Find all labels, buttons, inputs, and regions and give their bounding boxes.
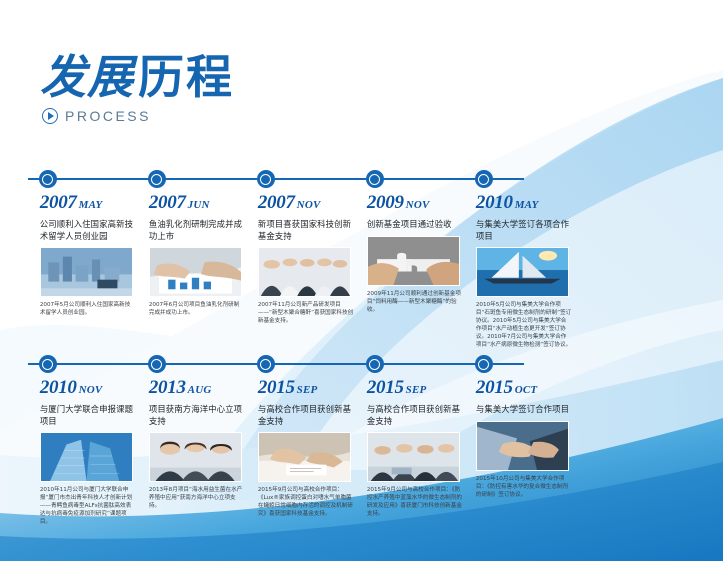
timeline-month: JUN	[188, 199, 210, 211]
timeline-headline: 与高校合作项目获创新基金支持	[258, 404, 358, 427]
timeline-year: 2015	[258, 377, 295, 398]
timeline-row-1: 2007MAY公司顺利入住国家高新技术留学人员创业园2007年5月公司顺利入住国…	[28, 170, 524, 342]
business-team-photo	[258, 247, 351, 297]
timeline-axis	[28, 355, 524, 373]
timeline-node[interactable]	[475, 170, 493, 188]
timeline-axis	[28, 170, 524, 188]
timeline-caption: 2010年5月公司与集美大学合作项目“石斑鱼专用微生态制剂的研制”签订协议。20…	[476, 301, 572, 349]
timeline-caption: 2007年11月公司新产品研发项目——“新型木聚合糖酐”喜获国家科技创新基金支持…	[258, 301, 354, 325]
timeline-item: 2010NOV与厦门大学联合申报课题项目2010年11月公司与厦门大学联合申报“…	[40, 377, 140, 526]
timeline-item: 2007MAY公司顺利入住国家高新技术留学人员创业园2007年5月公司顺利入住国…	[40, 192, 140, 317]
timeline-year: 2009	[367, 192, 404, 213]
timeline-caption: 2015年9月公司与高校合作项目：《Lux®家族调控蛋白对嗜水气单胞菌在蝇蚓日常…	[258, 486, 354, 518]
timeline-month: MAY	[79, 199, 103, 211]
timeline-caption: 2015年10月公司与集美大学合作项目：《防控有害水华的复合微生态制剂的研制》签…	[476, 475, 572, 499]
timeline-items: 2007MAY公司顺利入住国家高新技术留学人员创业园2007年5月公司顺利入住国…	[28, 192, 524, 342]
timeline-month: SEP	[297, 384, 318, 396]
timeline-month: MAY	[515, 199, 539, 211]
timeline-year: 2007	[40, 192, 77, 213]
timeline-items: 2010NOV与厦门大学联合申报课题项目2010年11月公司与厦门大学联合申报“…	[28, 377, 524, 527]
timeline-node[interactable]	[257, 170, 275, 188]
page-header: 发展历程 PROCESS	[40, 52, 234, 124]
timeline-node[interactable]	[366, 355, 384, 373]
hands-on-documents-photo	[149, 247, 242, 297]
handshake-photo	[476, 421, 569, 471]
play-circle-icon	[42, 108, 58, 124]
timeline-date: 2007MAY	[40, 192, 140, 216]
timeline-node[interactable]	[39, 170, 57, 188]
timeline-item: 2010MAY与集美大学签订各项合作项目2010年5月公司与集美大学合作项目“石…	[476, 192, 576, 349]
timeline-node[interactable]	[257, 355, 275, 373]
meeting-women-photo	[149, 432, 242, 482]
timeline-caption: 2015年9月公司与高校合作项目：《防控水产养殖中蓝藻水华的微生态制剂的研发及应…	[367, 486, 463, 518]
timeline-month: AUG	[188, 384, 212, 396]
timeline-date: 2007NOV	[258, 192, 358, 216]
timeline-date: 2015OCT	[476, 377, 576, 401]
timeline-caption: 2013年8月项目“海水用益生菌在水产养殖中应用”获南方海洋中心立项支持。	[149, 486, 245, 510]
timeline-year: 2015	[367, 377, 404, 398]
timeline-date: 2010NOV	[40, 377, 140, 401]
timeline-month: OCT	[515, 384, 538, 396]
page-subtitle-row: PROCESS	[42, 108, 234, 124]
timeline-date: 2015SEP	[258, 377, 358, 401]
timeline-month: SEP	[406, 384, 427, 396]
timeline-date: 2013AUG	[149, 377, 249, 401]
timeline-month: NOV	[79, 384, 103, 396]
timeline-item: 2015SEP与高校合作项目获创新基金支持2015年9月公司与高校合作项目：《L…	[258, 377, 358, 518]
timeline-headline: 创新基金项目通过验收	[367, 219, 467, 231]
timeline-axis-line	[28, 178, 524, 180]
timeline-date: 2009NOV	[367, 192, 467, 216]
timeline-date: 2015SEP	[367, 377, 467, 401]
puzzle-pieces-photo	[367, 236, 460, 286]
timeline-node[interactable]	[39, 355, 57, 373]
timeline-caption: 2009年11月公司顺利通过创新基金项目“饲料用酶——新型木聚糖酶”的验收。	[367, 290, 463, 314]
timeline-item: 2009NOV创新基金项目通过验收2009年11月公司顺利通过创新基金项目“饲料…	[367, 192, 467, 314]
timeline-node[interactable]	[475, 355, 493, 373]
timeline-date: 2007JUN	[149, 192, 249, 216]
timeline-row-2: 2010NOV与厦门大学联合申报课题项目2010年11月公司与厦门大学联合申报“…	[28, 355, 524, 527]
timeline-month: NOV	[406, 199, 430, 211]
timeline-year: 2013	[149, 377, 186, 398]
signing-desk-photo	[258, 432, 351, 482]
timeline-headline: 鱼油乳化剂研制完成并成功上市	[149, 219, 249, 242]
timeline-node[interactable]	[148, 355, 166, 373]
timeline-item: 2015OCT与集美大学签订合作项目2015年10月公司与集美大学合作项目：《防…	[476, 377, 576, 499]
timeline-axis-line	[28, 363, 524, 365]
page-title: 发展历程	[40, 52, 234, 102]
page-subtitle: PROCESS	[65, 108, 151, 124]
timeline-year: 2007	[258, 192, 295, 213]
timeline-headline: 新项目喜获国家科技创新基金支持	[258, 219, 358, 242]
timeline-caption: 2010年11月公司与厦门大学联合申报“厦门市杰出青年科技人才创新计划——青鳄鱼…	[40, 486, 136, 526]
timeline-headline: 与集美大学签订各项合作项目	[476, 219, 576, 242]
timeline-item: 2013AUG项目获南方海洋中心立项支持2013年8月项目“海水用益生菌在水产养…	[149, 377, 249, 510]
timeline-headline: 公司顺利入住国家高新技术留学人员创业园	[40, 219, 140, 242]
timeline-caption: 2007年6月公司项目鱼油乳化剂研制完成并成功上市。	[149, 301, 245, 317]
page-title-brush: 发展	[40, 50, 134, 104]
timeline-caption: 2007年5月公司顺利入住国家高新技术留学人员创业园。	[40, 301, 136, 317]
timeline-headline: 与厦门大学联合申报课题项目	[40, 404, 140, 427]
sailing-boat-photo	[476, 247, 569, 297]
timeline-headline: 项目获南方海洋中心立项支持	[149, 404, 249, 427]
timeline-headline: 与集美大学签订合作项目	[476, 404, 576, 416]
timeline-node[interactable]	[366, 170, 384, 188]
page-title-rest: 历程	[138, 50, 234, 104]
timeline-item: 2015SEP与高校合作项目获创新基金支持2015年9月公司与高校合作项目：《防…	[367, 377, 467, 518]
timeline-item: 2007NOV新项目喜获国家科技创新基金支持2007年11月公司新产品研发项目—…	[258, 192, 358, 325]
timeline-node[interactable]	[148, 170, 166, 188]
timeline-headline: 与高校合作项目获创新基金支持	[367, 404, 467, 427]
timeline-year: 2007	[149, 192, 186, 213]
timeline-month: NOV	[297, 199, 321, 211]
glass-tower-photo	[40, 432, 133, 482]
timeline-year: 2010	[40, 377, 77, 398]
timeline-year: 2010	[476, 192, 513, 213]
timeline-date: 2010MAY	[476, 192, 576, 216]
timeline-item: 2007JUN鱼油乳化剂研制完成并成功上市2007年6月公司项目鱼油乳化剂研制完…	[149, 192, 249, 317]
city-skyline-photo	[40, 247, 133, 297]
conference-panel-photo	[367, 432, 460, 482]
timeline-year: 2015	[476, 377, 513, 398]
